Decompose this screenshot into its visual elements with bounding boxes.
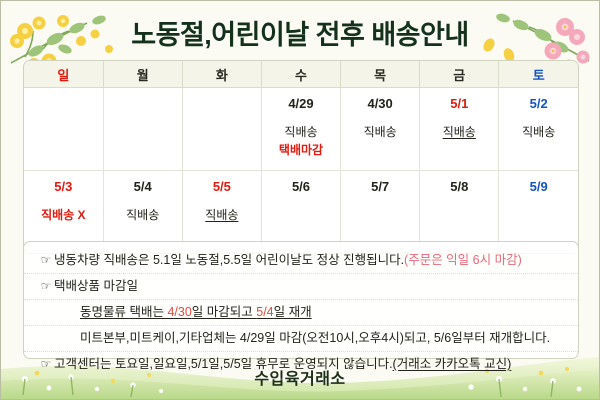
cell-note-primary: 직배송	[262, 123, 340, 142]
footer-brand: 수입육거래소	[1, 355, 599, 399]
weekday-header-thu: 목	[341, 61, 420, 88]
notice-line-parcel-deadline-heading: ☞택배상품 마감일	[24, 274, 578, 300]
cell-date: 5/4	[104, 177, 182, 197]
weekday-header-wed: 수	[261, 61, 340, 88]
notice-line-meat-vendors: 미트본부,미트케이,기타업체는 4/29일 마감(오전10시,오후4시)되고, …	[24, 326, 578, 352]
cell-note-primary: 직배송	[420, 123, 498, 142]
calendar-header-row: 일 월 화 수 목 금 토	[24, 61, 578, 88]
notice-underlined-group: 동명물류 택배는 4/30일 마감되고 5/4일 재개	[80, 305, 312, 319]
cell-date: 5/2	[499, 94, 578, 114]
notice-date-end: 4/30	[167, 305, 191, 319]
notice-text: 택배상품 마감일	[54, 279, 138, 293]
cell-date: 5/7	[341, 177, 419, 197]
weekday-header-sat: 토	[499, 61, 578, 88]
notice-text-highlight: (주문은 익일 6시 마감)	[404, 253, 522, 267]
cell-note-secondary: 택배마감	[262, 142, 340, 159]
notice-date-resume: 5/4	[256, 305, 273, 319]
cell-note-primary: 직배송	[104, 206, 182, 225]
cell-date: 4/30	[341, 94, 419, 114]
cell-note-primary: 직배송	[341, 123, 419, 142]
calendar-cell	[24, 88, 103, 171]
cell-date: 5/3	[24, 177, 103, 197]
cell-date: 5/6	[262, 177, 340, 197]
pointing-hand-icon: ☞	[38, 248, 54, 273]
calendar-cell-0430: 4/30 직배송	[341, 88, 420, 171]
weekday-header-sun: 일	[24, 61, 103, 88]
notice-text: 동명물류 택배는	[80, 305, 167, 319]
notice-line-dongmyeong-logistics: 동명물류 택배는 4/30일 마감되고 5/4일 재개	[24, 300, 578, 326]
calendar-table: 일 월 화 수 목 금 토	[24, 61, 578, 253]
notice-text: 미트본부,미트케이,기타업체는 4/29일 마감(오전10시,오후4시)되고, …	[80, 331, 550, 345]
pointing-hand-icon: ☞	[38, 274, 54, 299]
notice-line-cold-delivery: ☞냉동차량 직배송은 5.1일 노동절,5.5일 어린이날도 정상 진행됩니다.…	[24, 248, 578, 274]
calendar-cell-0502: 5/2 직배송	[499, 88, 578, 171]
weekday-header-mon: 월	[103, 61, 182, 88]
weekday-header-tue: 화	[182, 61, 261, 88]
calendar-cell-0501: 5/1 직배송	[420, 88, 499, 171]
cell-date: 5/8	[420, 177, 498, 197]
cell-date: 5/5	[183, 177, 261, 197]
calendar-cell-0429: 4/29 직배송 택배마감	[261, 88, 340, 171]
cell-date: 5/1	[420, 94, 498, 114]
cell-date: 4/29	[262, 94, 340, 114]
cell-note-primary: 직배송	[499, 123, 578, 142]
notice-text: 일 마감되고	[192, 305, 256, 319]
page-title: 노동절,어린이날 전후 배송안내	[1, 10, 599, 54]
calendar-week-row: 4/29 직배송 택배마감 4/30 직배송 5/1 직배송 5/2 직배송	[24, 88, 578, 171]
weekday-header-fri: 금	[420, 61, 499, 88]
delivery-notice-poster: 노동절,어린이날 전후 배송안내 일 월 화 수 목 금 토	[0, 0, 600, 400]
notice-text: 냉동차량 직배송은 5.1일 노동절,5.5일 어린이날도 정상 진행됩니다.	[54, 253, 404, 267]
notice-text: 일 재개	[274, 305, 312, 319]
cell-note-primary: 직배송	[183, 206, 261, 225]
calendar-cell	[103, 88, 182, 171]
notice-panel: ☞냉동차량 직배송은 5.1일 노동절,5.5일 어린이날도 정상 진행됩니다.…	[23, 241, 579, 359]
calendar-cell	[182, 88, 261, 171]
cell-date: 5/9	[499, 177, 578, 197]
delivery-calendar: 일 월 화 수 목 금 토	[23, 60, 579, 254]
cell-note-primary: 직배송 X	[24, 206, 103, 225]
